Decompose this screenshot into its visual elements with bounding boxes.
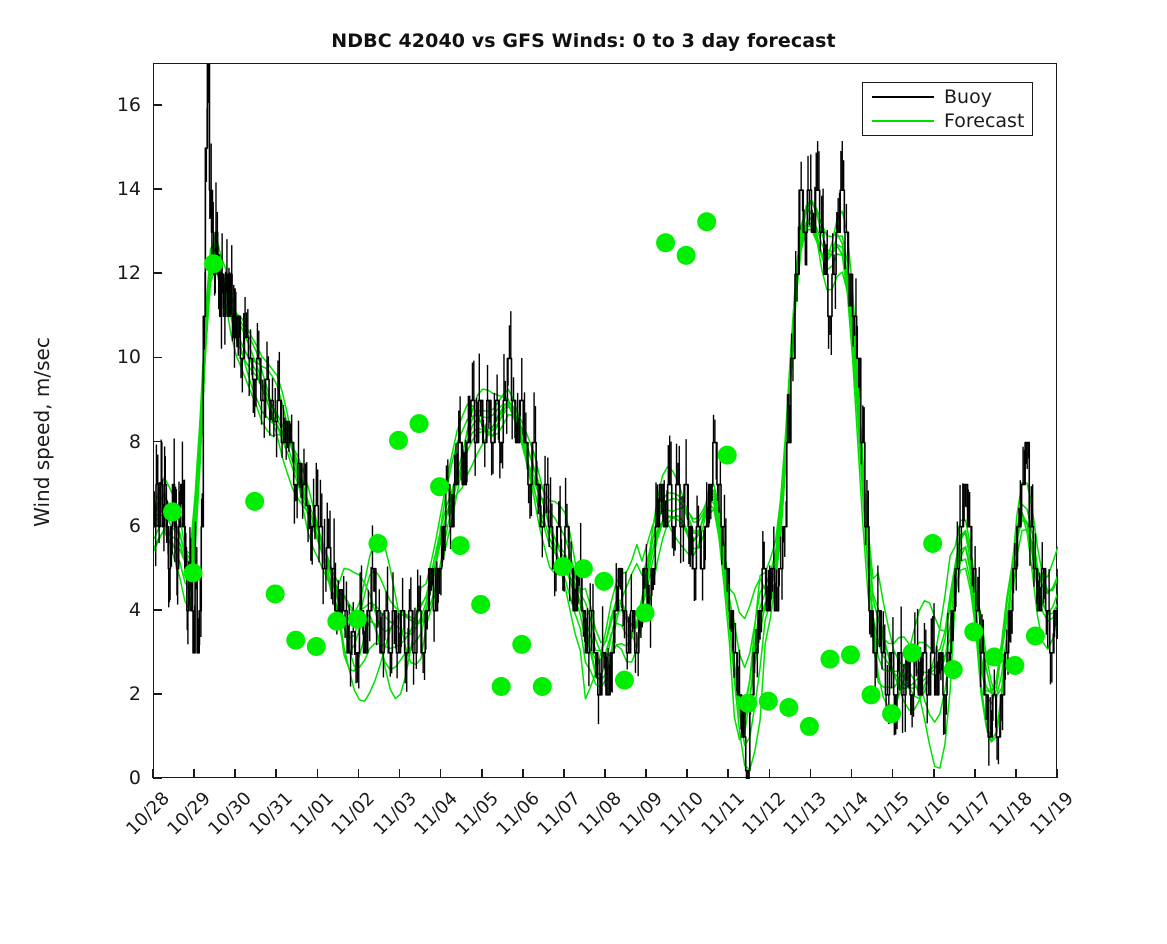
x-tick-label: 11/19 [922, 788, 1078, 944]
forecast-marker-dot [944, 660, 963, 679]
y-tick-label: 4 [81, 599, 141, 621]
x-tick-label: 11/10 [552, 788, 708, 944]
legend-line-swatch-buoy [872, 96, 934, 98]
forecast-marker-dot [533, 677, 552, 696]
forecast-marker-dot [882, 704, 901, 723]
x-tick-label: 11/17 [839, 788, 995, 944]
x-tick-label: 11/01 [182, 788, 338, 944]
forecast-marker-dot [1005, 656, 1024, 675]
forecast-marker-dot [1026, 627, 1045, 646]
forecast-marker-dot [574, 559, 593, 578]
forecast-marker-dot [553, 557, 572, 576]
forecast-marker-dot [615, 671, 634, 690]
forecast-marker-dot [492, 677, 511, 696]
chart-plot-svg [154, 64, 1058, 779]
x-tick-label: 11/09 [511, 788, 667, 944]
forecast-marker-dot [204, 254, 223, 273]
forecast-marker-dot [389, 431, 408, 450]
buoy-stairs-line [154, 64, 1058, 779]
x-tick-label: 10/28 [18, 788, 174, 944]
legend-entry-forecast: Forecast [863, 109, 1032, 133]
forecast-marker-dot [245, 492, 264, 511]
forecast-marker-dot [594, 572, 613, 591]
forecast-marker-dot [903, 643, 922, 662]
x-tick-label: 11/03 [264, 788, 420, 944]
forecast-marker-dot [348, 610, 367, 629]
forecast-marker-dot [163, 502, 182, 521]
forecast-marker-dot [862, 685, 881, 704]
x-tick-label: 11/16 [798, 788, 954, 944]
x-tick-label: 10/30 [100, 788, 256, 944]
x-tick-label: 11/08 [470, 788, 626, 944]
x-tick-label: 11/06 [387, 788, 543, 944]
forecast-marker-dot [327, 612, 346, 631]
x-tick-label: 11/05 [346, 788, 502, 944]
forecast-marker-dot [985, 648, 1004, 667]
forecast-marker-dot [451, 536, 470, 555]
forecast-marker-dot [266, 584, 285, 603]
forecast-marker-dot [430, 477, 449, 496]
legend-entry-buoy: Buoy [863, 85, 1032, 109]
x-tick-label: 11/11 [593, 788, 749, 944]
forecast-marker-dot [779, 698, 798, 717]
forecast-marker-dot [759, 692, 778, 711]
chart-legend[interactable]: Buoy Forecast [862, 82, 1033, 136]
x-tick-label: 11/07 [428, 788, 584, 944]
y-tick-label: 0 [81, 767, 141, 789]
x-tick-label: 11/12 [634, 788, 790, 944]
forecast-marker-dot [656, 233, 675, 252]
forecast-marker-dot [307, 637, 326, 656]
x-tick-label: 11/04 [305, 788, 461, 944]
x-tick-label: 11/02 [223, 788, 379, 944]
y-tick-label: 14 [81, 178, 141, 200]
forecast-ensemble-member [154, 222, 1058, 689]
forecast-marker-dot [184, 563, 203, 582]
chart-title: NDBC 42040 vs GFS Winds: 0 to 3 day fore… [0, 30, 1167, 52]
forecast-marker-dot [718, 446, 737, 465]
forecast-marker-dot [677, 246, 696, 265]
y-tick-label: 16 [81, 94, 141, 116]
y-axis-title: Wind speed, m/sec [30, 182, 54, 682]
forecast-marker-dot [964, 622, 983, 641]
figure-canvas: NDBC 42040 vs GFS Winds: 0 to 3 day fore… [0, 0, 1167, 875]
x-tick-label: 11/13 [675, 788, 831, 944]
y-tick-label: 2 [81, 683, 141, 705]
forecast-marker-dot [697, 212, 716, 231]
legend-label-buoy: Buoy [944, 88, 992, 107]
forecast-marker-dot [410, 414, 429, 433]
forecast-marker-dot [820, 650, 839, 669]
forecast-marker-dot [800, 717, 819, 736]
forecast-marker-dot [512, 635, 531, 654]
forecast-marker-dot [471, 595, 490, 614]
y-tick-label: 8 [81, 431, 141, 453]
x-tick-label: 11/18 [880, 788, 1036, 944]
forecast-marker-dot [286, 631, 305, 650]
forecast-marker-dot [841, 645, 860, 664]
legend-label-forecast: Forecast [944, 112, 1024, 131]
legend-line-swatch-forecast [872, 120, 934, 122]
x-tick-label: 10/31 [141, 788, 297, 944]
forecast-marker-dot [368, 534, 387, 553]
forecast-marker-dot [636, 603, 655, 622]
y-tick-label: 10 [81, 346, 141, 368]
plot-area [153, 63, 1057, 778]
forecast-marker-dot [923, 534, 942, 553]
x-tick-label: 11/14 [716, 788, 872, 944]
x-tick-label: 11/15 [757, 788, 913, 944]
x-tick-label: 10/29 [59, 788, 215, 944]
y-tick-label: 6 [81, 515, 141, 537]
forecast-marker-dot [738, 694, 757, 713]
y-tick-label: 12 [81, 262, 141, 284]
